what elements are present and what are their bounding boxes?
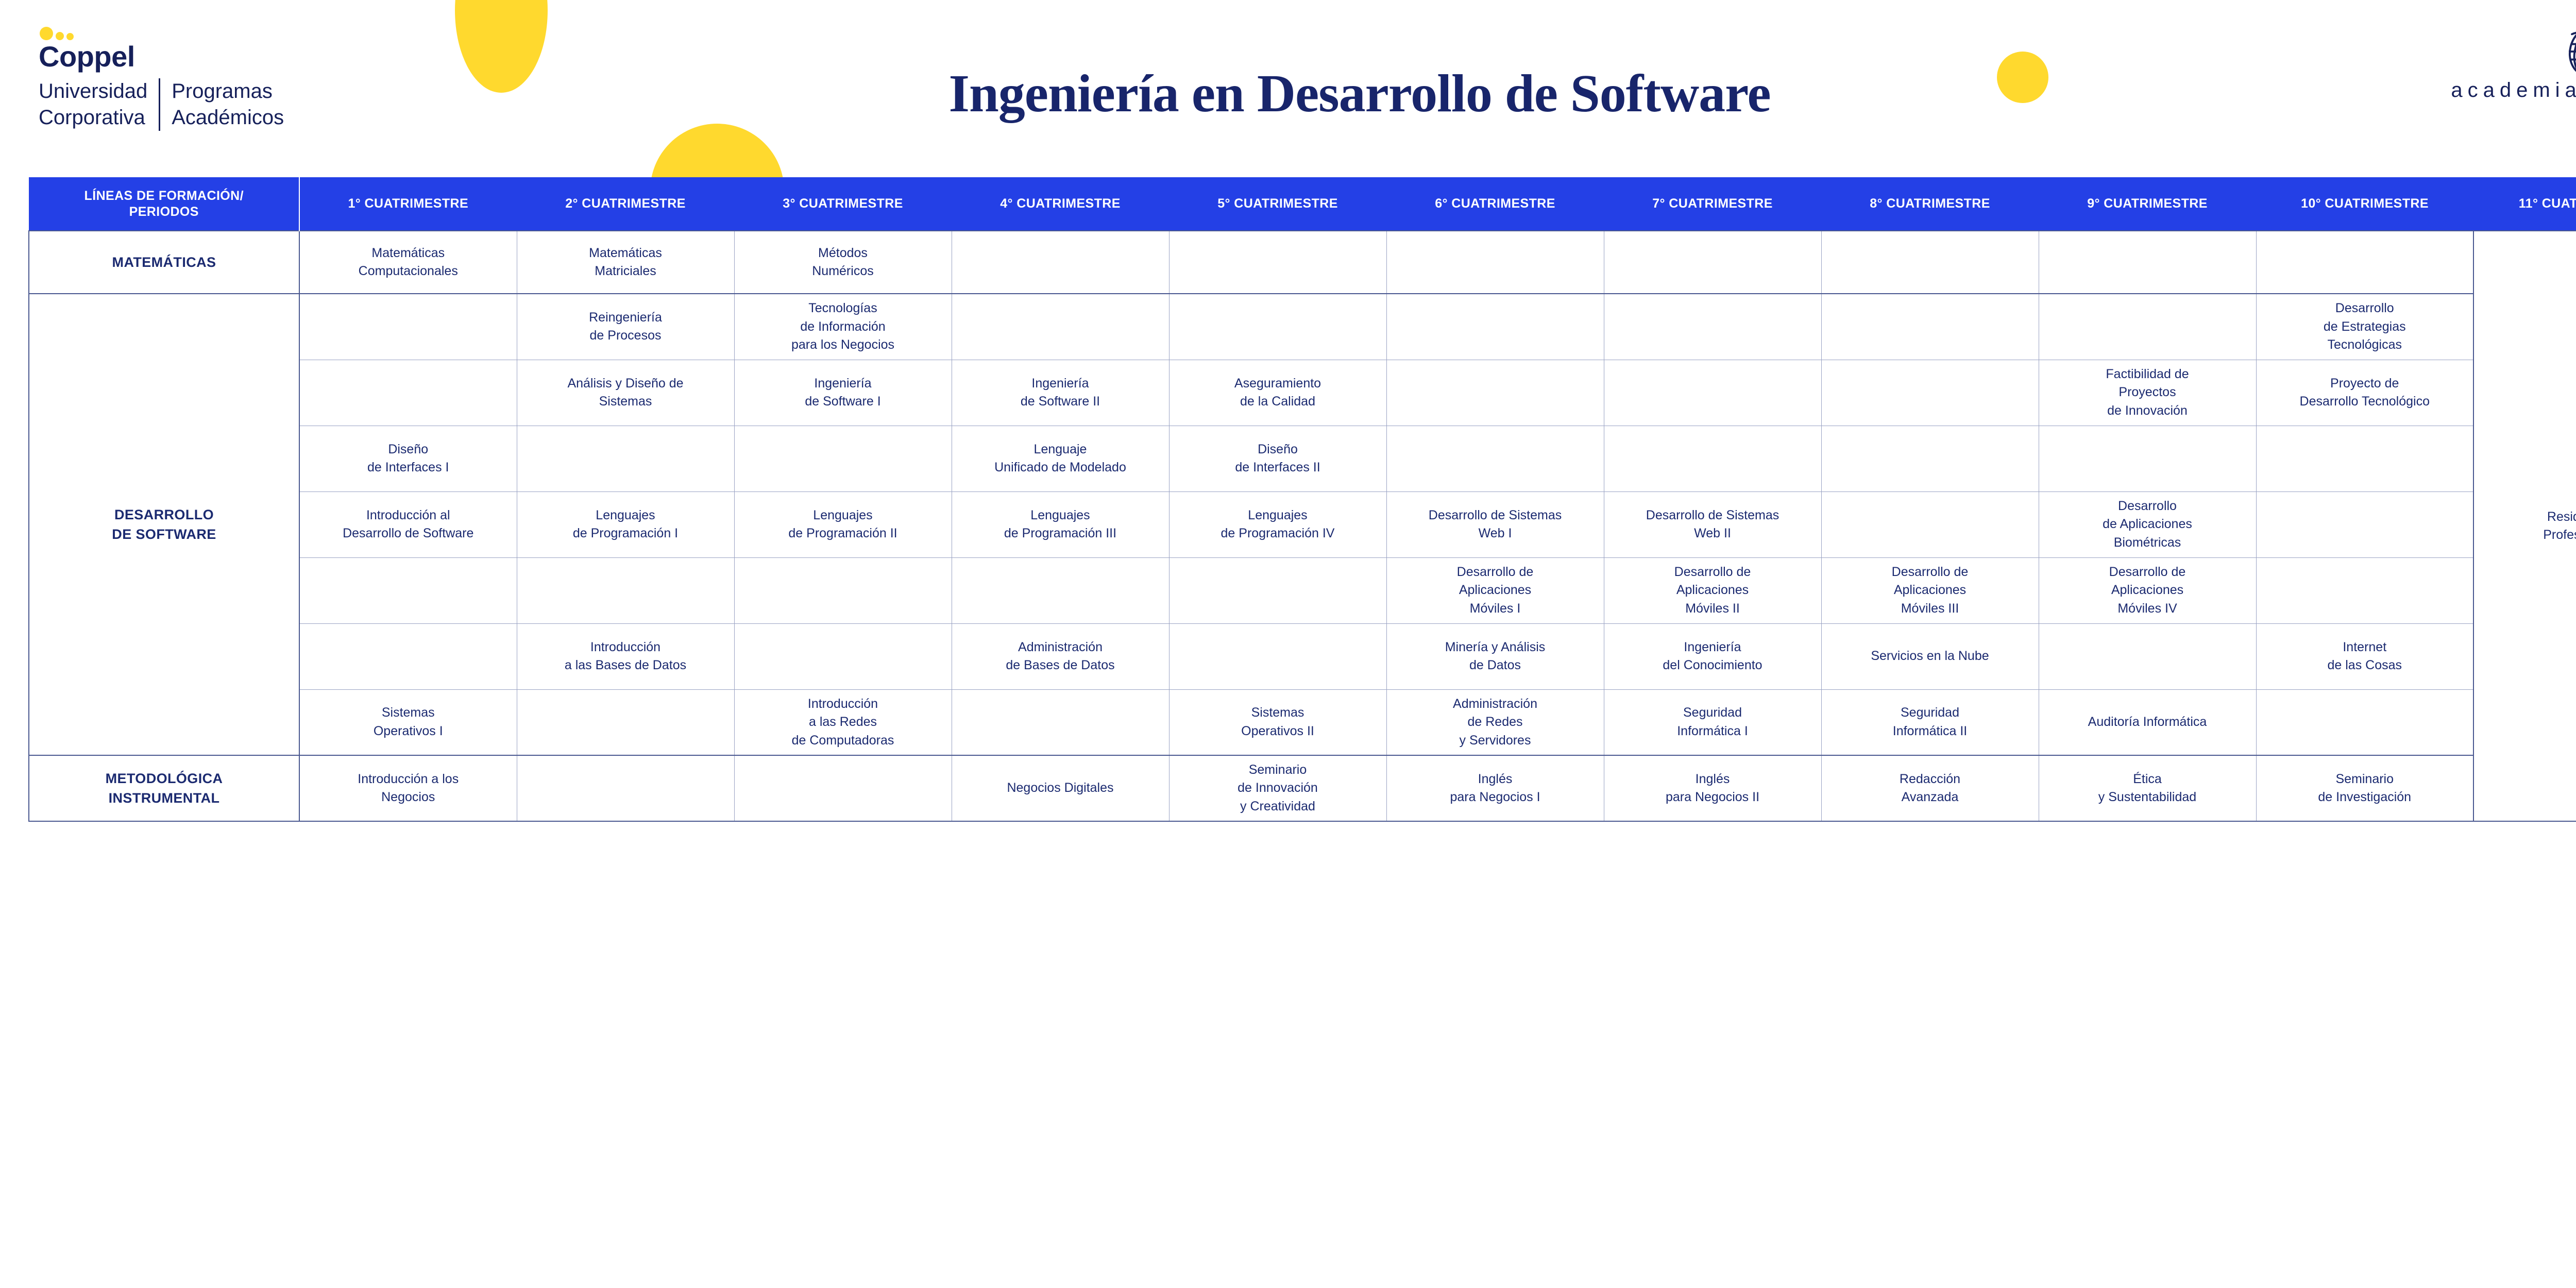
course-cell bbox=[734, 426, 952, 492]
course-cell bbox=[952, 231, 1169, 294]
column-header-term-10: 10° CUATRIMESTRE bbox=[2256, 178, 2473, 231]
course-cell: Seminario de Innovación y Creatividad bbox=[1169, 755, 1386, 821]
course-cell bbox=[1821, 426, 2039, 492]
column-header-term-9: 9° CUATRIMESTRE bbox=[2039, 178, 2256, 231]
course-cell bbox=[1604, 426, 1821, 492]
course-cell bbox=[1386, 426, 1604, 492]
table-row: Introducción a las Bases de Datos Admini… bbox=[29, 623, 2576, 689]
course-cell: Internet de las Cosas bbox=[2256, 623, 2473, 689]
course-cell bbox=[1821, 294, 2039, 360]
academia-global-logo: academia global bbox=[2446, 21, 2576, 108]
course-cell: Introducción a los Negocios bbox=[299, 755, 517, 821]
table-row: METODOLÓGICA INSTRUMENTAL Introducción a… bbox=[29, 755, 2576, 821]
course-cell bbox=[299, 557, 517, 623]
course-cell: Redacción Avanzada bbox=[1821, 755, 2039, 821]
course-cell: Ingeniería del Conocimiento bbox=[1604, 623, 1821, 689]
table-row: MATEMÁTICAS Matemáticas Computacionales … bbox=[29, 231, 2576, 294]
column-header-term-6: 6° CUATRIMESTRE bbox=[1386, 178, 1604, 231]
course-cell bbox=[1821, 360, 2039, 426]
course-cell: Administración de Redes y Servidores bbox=[1386, 689, 1604, 755]
course-cell: Lenguajes de Programación III bbox=[952, 492, 1169, 557]
column-header-term-11: 11° CUATRIMESTRE bbox=[2473, 178, 2576, 231]
line-label-desarrollo-de-software: DESARROLLO DE SOFTWARE bbox=[29, 294, 299, 755]
course-cell bbox=[1169, 623, 1386, 689]
course-cell: Desarrollo de Aplicaciones Biométricas bbox=[2039, 492, 2256, 557]
course-cell bbox=[952, 689, 1169, 755]
course-cell bbox=[299, 623, 517, 689]
course-cell bbox=[517, 755, 734, 821]
course-cell: Inglés para Negocios I bbox=[1386, 755, 1604, 821]
course-cell bbox=[1821, 231, 2039, 294]
course-cell: Desarrollo de Aplicaciones Móviles I bbox=[1386, 557, 1604, 623]
course-cell bbox=[517, 557, 734, 623]
course-cell: Seguridad Informática II bbox=[1821, 689, 2039, 755]
course-cell: Ética y Sustentabilidad bbox=[2039, 755, 2256, 821]
course-cell: Introducción al Desarrollo de Software bbox=[299, 492, 517, 557]
course-cell bbox=[2256, 231, 2473, 294]
table-row: Diseño de Interfaces I Lenguaje Unificad… bbox=[29, 426, 2576, 492]
course-cell bbox=[2256, 557, 2473, 623]
course-cell: Matemáticas Matriciales bbox=[517, 231, 734, 294]
course-cell: Minería y Análisis de Datos bbox=[1386, 623, 1604, 689]
course-cell bbox=[2039, 426, 2256, 492]
column-header-term-2: 2° CUATRIMESTRE bbox=[517, 178, 734, 231]
course-cell: Matemáticas Computacionales bbox=[299, 231, 517, 294]
residency-cell: Residencias Profesionales bbox=[2473, 231, 2576, 821]
course-cell bbox=[2256, 492, 2473, 557]
table-row: Sistemas Operativos I Introducción a las… bbox=[29, 689, 2576, 755]
course-cell bbox=[2256, 426, 2473, 492]
course-cell: Desarrollo de Aplicaciones Móviles III bbox=[1821, 557, 2039, 623]
page-title: Ingeniería en Desarrollo de Software bbox=[0, 63, 2576, 124]
course-cell bbox=[1169, 294, 1386, 360]
course-cell: Desarrollo de Sistemas Web I bbox=[1386, 492, 1604, 557]
course-cell bbox=[1821, 492, 2039, 557]
course-cell: Ingeniería de Software II bbox=[952, 360, 1169, 426]
course-cell: Lenguajes de Programación I bbox=[517, 492, 734, 557]
column-header-term-7: 7° CUATRIMESTRE bbox=[1604, 178, 1821, 231]
curriculum-map-table: LÍNEAS DE FORMACIÓN/ PERIODOS 1° CUATRIM… bbox=[28, 177, 2576, 822]
course-cell: Inglés para Negocios II bbox=[1604, 755, 1821, 821]
course-cell bbox=[517, 689, 734, 755]
course-cell: Desarrollo de Aplicaciones Móviles IV bbox=[2039, 557, 2256, 623]
course-cell bbox=[2039, 294, 2256, 360]
column-header-term-4: 4° CUATRIMESTRE bbox=[952, 178, 1169, 231]
course-cell bbox=[1604, 360, 1821, 426]
table-row: Introducción al Desarrollo de Software L… bbox=[29, 492, 2576, 557]
table-row: Desarrollo de Aplicaciones Móviles I Des… bbox=[29, 557, 2576, 623]
column-header-term-5: 5° CUATRIMESTRE bbox=[1169, 178, 1386, 231]
globe-icon bbox=[2560, 21, 2576, 82]
column-header-lineas: LÍNEAS DE FORMACIÓN/ PERIODOS bbox=[29, 178, 299, 231]
line-label-matematicas: MATEMÁTICAS bbox=[29, 231, 299, 294]
course-cell bbox=[2256, 689, 2473, 755]
course-cell: Desarrollo de Estrategias Tecnológicas bbox=[2256, 294, 2473, 360]
course-cell bbox=[1386, 360, 1604, 426]
course-cell: Factibilidad de Proyectos de Innovación bbox=[2039, 360, 2256, 426]
page-header: Coppel Universidad Corporativa Programas… bbox=[0, 0, 2576, 175]
line-label-metodologica-instrumental: METODOLÓGICA INSTRUMENTAL bbox=[29, 755, 299, 821]
course-cell: Negocios Digitales bbox=[952, 755, 1169, 821]
table-row: Análisis y Diseño de Sistemas Ingeniería… bbox=[29, 360, 2576, 426]
course-cell: Sistemas Operativos I bbox=[299, 689, 517, 755]
course-cell bbox=[734, 755, 952, 821]
course-cell: Lenguajes de Programación IV bbox=[1169, 492, 1386, 557]
course-cell bbox=[952, 294, 1169, 360]
table-row: DESARROLLO DE SOFTWARE Reingeniería de P… bbox=[29, 294, 2576, 360]
course-cell: Lenguajes de Programación II bbox=[734, 492, 952, 557]
course-cell bbox=[1169, 231, 1386, 294]
course-cell: Reingeniería de Procesos bbox=[517, 294, 734, 360]
course-cell bbox=[952, 557, 1169, 623]
course-cell: Seminario de Investigación bbox=[2256, 755, 2473, 821]
course-cell bbox=[1386, 294, 1604, 360]
course-cell: Introducción a las Redes de Computadoras bbox=[734, 689, 952, 755]
column-header-term-1: 1° CUATRIMESTRE bbox=[299, 178, 517, 231]
course-cell bbox=[1604, 294, 1821, 360]
course-cell: Diseño de Interfaces I bbox=[299, 426, 517, 492]
course-cell bbox=[734, 623, 952, 689]
course-cell: Lenguaje Unificado de Modelado bbox=[952, 426, 1169, 492]
course-cell: Introducción a las Bases de Datos bbox=[517, 623, 734, 689]
course-cell: Aseguramiento de la Calidad bbox=[1169, 360, 1386, 426]
course-cell bbox=[517, 426, 734, 492]
course-cell: Ingeniería de Software I bbox=[734, 360, 952, 426]
course-cell bbox=[1386, 231, 1604, 294]
course-cell bbox=[1169, 557, 1386, 623]
course-cell bbox=[299, 294, 517, 360]
academia-global-wordmark: academia global bbox=[2446, 79, 2576, 102]
course-cell: Desarrollo de Aplicaciones Móviles II bbox=[1604, 557, 1821, 623]
course-cell bbox=[1604, 231, 1821, 294]
coppel-dots-icon bbox=[40, 27, 74, 40]
table-header-row: LÍNEAS DE FORMACIÓN/ PERIODOS 1° CUATRIM… bbox=[29, 178, 2576, 231]
course-cell: Desarrollo de Sistemas Web II bbox=[1604, 492, 1821, 557]
course-cell: Seguridad Informática I bbox=[1604, 689, 1821, 755]
course-cell bbox=[299, 360, 517, 426]
course-cell: Métodos Numéricos bbox=[734, 231, 952, 294]
course-cell: Proyecto de Desarrollo Tecnológico bbox=[2256, 360, 2473, 426]
course-cell bbox=[2039, 231, 2256, 294]
column-header-term-3: 3° CUATRIMESTRE bbox=[734, 178, 952, 231]
course-cell bbox=[734, 557, 952, 623]
course-cell: Diseño de Interfaces II bbox=[1169, 426, 1386, 492]
course-cell: Administración de Bases de Datos bbox=[952, 623, 1169, 689]
course-cell: Análisis y Diseño de Sistemas bbox=[517, 360, 734, 426]
course-cell bbox=[2039, 623, 2256, 689]
course-cell: Auditoría Informática bbox=[2039, 689, 2256, 755]
course-cell: Tecnologías de Información para los Nego… bbox=[734, 294, 952, 360]
course-cell: Sistemas Operativos II bbox=[1169, 689, 1386, 755]
column-header-term-8: 8° CUATRIMESTRE bbox=[1821, 178, 2039, 231]
course-cell: Servicios en la Nube bbox=[1821, 623, 2039, 689]
